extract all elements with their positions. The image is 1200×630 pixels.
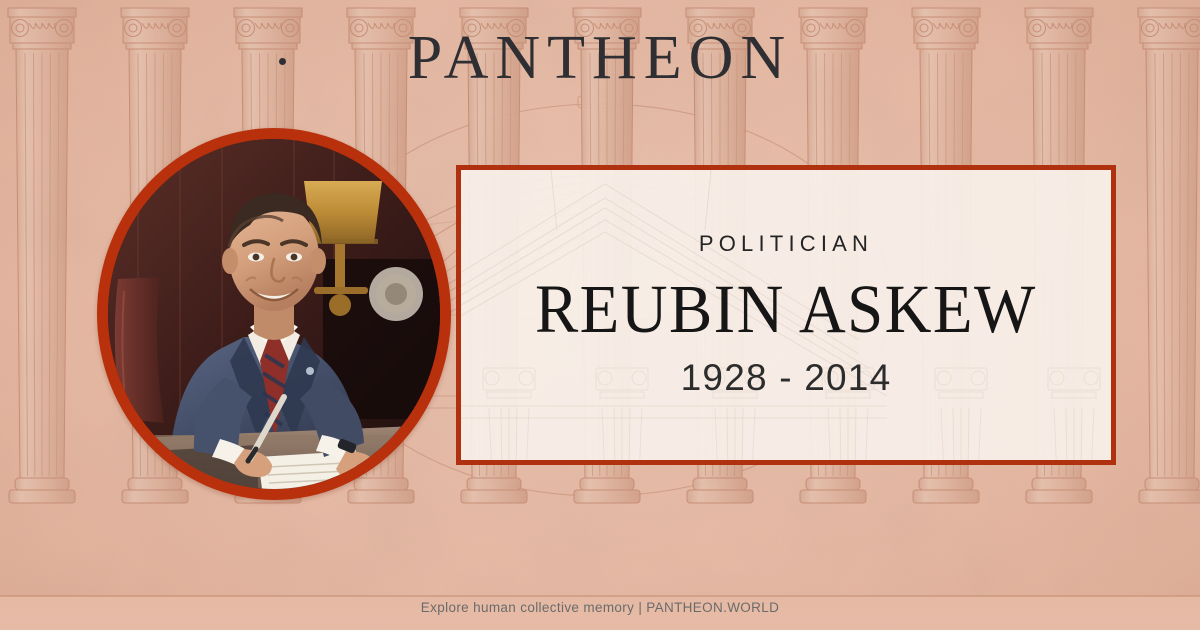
portrait-photo [108,139,440,489]
footer-text: Explore human collective memory | PANTHE… [0,600,1200,615]
occupation-label: POLITICIAN [699,231,873,257]
brand-logo-text: PANTHEON [408,26,792,90]
person-info-card: POLITICIAN REUBIN ASKEW 1928 - 2014 [456,165,1116,465]
wall-plate [369,267,423,321]
brand-logo: PANTHEON [0,26,1200,96]
life-years: 1928 - 2014 [681,357,892,399]
card-content: POLITICIAN REUBIN ASKEW 1928 - 2014 [461,170,1111,460]
oculus-dot-icon [279,58,286,65]
person-name: REUBIN ASKEW [535,271,1037,347]
poster-canvas: PANTHEON [0,0,1200,630]
portrait-avatar [108,139,440,489]
portrait-ring [97,128,451,500]
